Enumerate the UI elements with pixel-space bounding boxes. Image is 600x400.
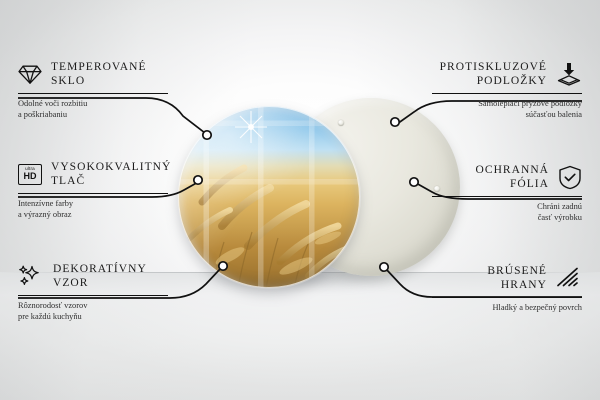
diamond-icon (18, 64, 42, 85)
feature-title-line1: TEMPEROVANÉ (51, 61, 147, 73)
feature-header: OCHRANNÁ FÓLIA (432, 163, 582, 191)
feature-header: TEMPEROVANÉ SKLO (18, 60, 168, 88)
feature-sub-line1: Odolné voči rozbitiu (18, 99, 87, 108)
feature-title-line2: SKLO (51, 75, 85, 87)
feature-title-line1: DEKORATÍVNY (53, 263, 147, 275)
feature-divider (432, 93, 582, 94)
ultra-hd-icon: ultra HD (18, 164, 42, 185)
feature-sub-line1: Chráni zadnú (537, 202, 582, 211)
feature-sub-line2: pre každú kuchyňu (18, 312, 82, 321)
feature-title: BRÚSENÉ HRANY (487, 264, 547, 292)
feature-sub-line1: Hladký a bezpečný povrch (492, 303, 582, 312)
feature-title: DEKORATÍVNY VZOR (53, 262, 147, 290)
callout-marker (380, 263, 388, 271)
product-infographic: TEMPEROVANÉ SKLO Odolné voči rozbitiu a … (0, 0, 600, 400)
feature-divider (18, 93, 168, 94)
feature-subtitle: Hladký a bezpečný povrch (432, 302, 582, 313)
callout-marker (391, 118, 399, 126)
feature-title-line2: VZOR (53, 277, 88, 289)
feature-anti-slip-pads: PROTISKLUZOVÉ PODLOŽKY Samolepiaci pryžo… (432, 60, 582, 120)
feature-decorative-pattern: DEKORATÍVNY VZOR Rôznorodosť vzorov pre … (18, 262, 168, 322)
callout-marker (203, 131, 211, 139)
feature-divider (18, 295, 168, 296)
feature-title-line2: TLAČ (51, 175, 85, 187)
feature-header: BRÚSENÉ HRANY (432, 264, 582, 292)
feature-title: TEMPEROVANÉ SKLO (51, 60, 147, 88)
feature-sub-line1: Intenzívne farby (18, 199, 73, 208)
feature-polished-edges: BRÚSENÉ HRANY Hladký a bezpečný povrch (432, 264, 582, 313)
feature-subtitle: Chráni zadnú časť výrobku (432, 201, 582, 223)
feature-subtitle: Rôznorodosť vzorov pre každú kuchyňu (18, 300, 168, 322)
feature-title: PROTISKLUZOVÉ PODLOŽKY (440, 60, 547, 88)
feature-divider (18, 193, 168, 194)
sparkles-icon (18, 264, 44, 288)
feature-title: OCHRANNÁ FÓLIA (476, 163, 549, 191)
feature-title-line1: VYSOKOKVALITNÝ (51, 161, 171, 173)
feature-sub-line1: Samolepiaci pryžové podložky (478, 99, 582, 108)
feature-subtitle: Intenzívne farby a výrazný obraz (18, 198, 168, 220)
feature-title-line1: PROTISKLUZOVÉ (440, 61, 547, 73)
feature-title: VYSOKOKVALITNÝ TLAČ (51, 160, 171, 188)
feature-header: DEKORATÍVNY VZOR (18, 262, 168, 290)
feature-subtitle: Samolepiaci pryžové podložky súčasťou ba… (432, 98, 582, 120)
callout-marker (219, 262, 227, 270)
feature-title-line1: OCHRANNÁ (476, 164, 549, 176)
ultra-hd-bottom-text: HD (24, 172, 37, 181)
feature-header: ultra HD VYSOKOKVALITNÝ TLAČ (18, 160, 168, 188)
shield-check-icon (558, 165, 582, 190)
feature-title-line2: PODLOŽKY (477, 75, 547, 87)
feature-tempered-glass: TEMPEROVANÉ SKLO Odolné voči rozbitiu a … (18, 60, 168, 120)
feature-subtitle: Odolné voči rozbitiu a poškriabaniu (18, 98, 168, 120)
feature-sub-line2: časť výrobku (538, 213, 582, 222)
feature-title-line2: FÓLIA (510, 178, 549, 190)
feature-title-line2: HRANY (501, 279, 547, 291)
feature-divider (432, 297, 582, 298)
feature-divider (432, 196, 582, 197)
feature-title-line1: BRÚSENÉ (487, 265, 547, 277)
brushed-edges-icon (556, 267, 582, 289)
press-pad-icon (556, 62, 582, 86)
callout-marker (410, 178, 418, 186)
feature-high-quality-print: ultra HD VYSOKOKVALITNÝ TLAČ Intenzívne … (18, 160, 168, 220)
feature-sub-line2: a výrazný obraz (18, 210, 71, 219)
feature-sub-line2: súčasťou balenia (526, 110, 582, 119)
callout-marker (194, 176, 202, 184)
feature-sub-line1: Rôznorodosť vzorov (18, 301, 87, 310)
feature-protective-film: OCHRANNÁ FÓLIA Chráni zadnú časť výrobku (432, 163, 582, 223)
feature-header: PROTISKLUZOVÉ PODLOŽKY (432, 60, 582, 88)
feature-sub-line2: a poškriabaniu (18, 110, 67, 119)
